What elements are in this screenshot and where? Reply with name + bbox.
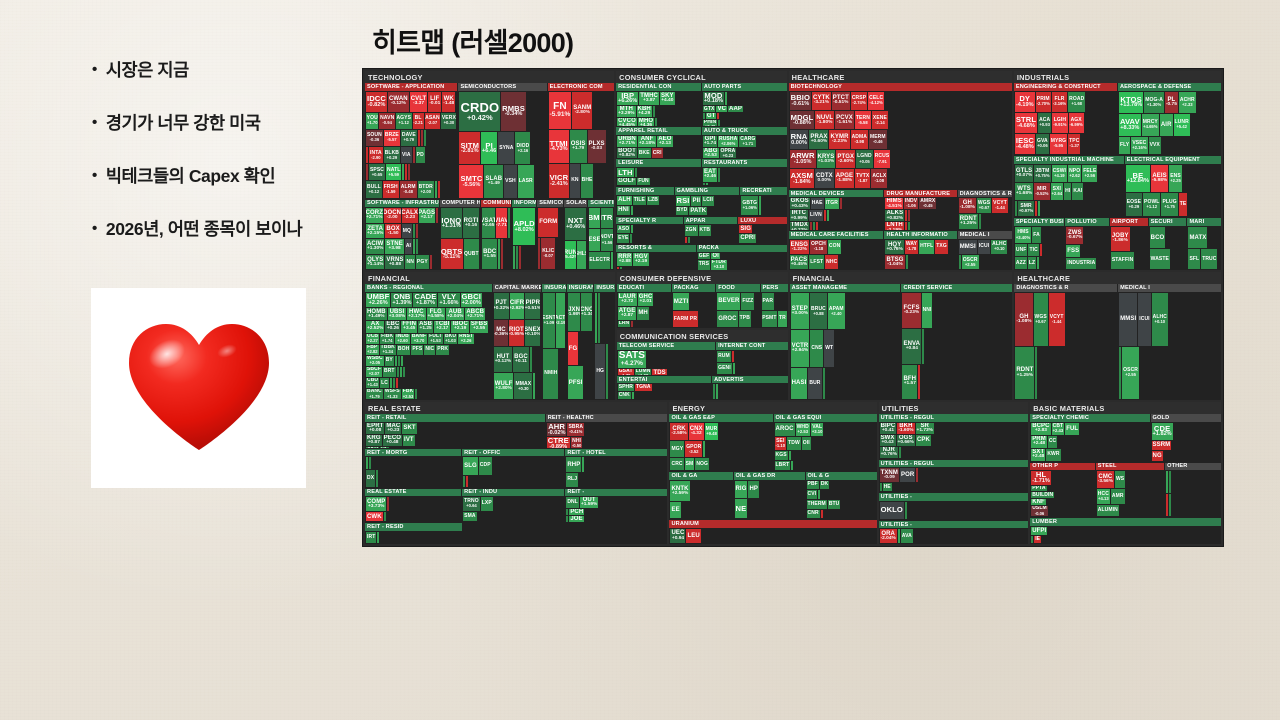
stock-tile[interactable] xyxy=(898,529,900,543)
stock-tile-cwk[interactable]: CWK xyxy=(366,512,383,521)
stock-tile[interactable] xyxy=(438,181,440,197)
stock-tile[interactable] xyxy=(823,368,825,399)
industry-group[interactable]: SPECIALTY BUSIHMS+3.40%FAUNFTICAZZLZ xyxy=(1014,218,1064,270)
stock-tile-val[interactable]: VAL+3.10 xyxy=(811,423,824,436)
stock-tile-mog-a[interactable]: MOG-A+1.30% xyxy=(1144,92,1164,114)
stock-tile-bl[interactable]: BL-2.21 xyxy=(413,113,424,129)
stock-tile-cpk[interactable]: CPK xyxy=(916,435,931,446)
stock-tile-fa[interactable]: FA xyxy=(1032,227,1041,243)
industry-group[interactable]: REIT - HOTELRHPRLJ xyxy=(565,449,667,488)
stock-tile[interactable] xyxy=(703,113,705,119)
stock-tile-wsfs[interactable]: WSFS+1.33 xyxy=(384,389,401,399)
stock-tile[interactable] xyxy=(717,113,719,119)
stock-tile-nog[interactable]: NOG xyxy=(695,458,709,470)
industry-group[interactable]: AIRPORTJOBY-1.86%STAFFIN xyxy=(1110,218,1148,270)
stock-tile-cde[interactable]: CDE+1.82% xyxy=(1152,423,1173,440)
stock-tile-oscr[interactable]: OSCR+2.55 xyxy=(962,255,979,269)
stock-tile-jbtm[interactable]: JBTM+0.75% xyxy=(1034,165,1050,182)
stock-tile[interactable] xyxy=(366,147,368,163)
stock-tile-lbrt[interactable]: LBRT xyxy=(775,461,791,470)
stock-tile-itgr[interactable]: ITGR xyxy=(825,198,839,209)
stock-tile-cytk[interactable]: CYTK-3.21% xyxy=(812,92,831,110)
stock-tile-indv[interactable]: INDV-1.06 xyxy=(904,198,918,209)
stock-tile-peco[interactable]: PECO+0.48 xyxy=(383,435,402,446)
stock-tile[interactable] xyxy=(566,516,568,522)
industry-group[interactable]: MARIMATXSFLTRUC xyxy=(1187,218,1221,270)
stock-tile-sats[interactable]: SATS+4.27% xyxy=(618,351,646,368)
stock-tile[interactable] xyxy=(366,457,368,468)
stock-tile-nic[interactable]: NIC xyxy=(424,345,435,355)
stock-tile-mmsi[interactable]: MMSI xyxy=(959,240,977,254)
stock-tile-vcyt[interactable]: VCYT-1.44 xyxy=(1049,293,1065,346)
stock-tile[interactable] xyxy=(413,239,415,254)
stock-tile-step[interactable]: STEP+3.00% xyxy=(791,293,809,329)
stock-tile-zgn[interactable]: ZGN xyxy=(685,225,698,236)
stock-tile-lc[interactable]: LC xyxy=(380,378,389,388)
industry-group[interactable]: BANKS - REGIONALUMBF+2.26%ONB+1.39%CADE+… xyxy=(365,284,492,400)
stock-tile-spsc[interactable]: SPSC+0.65 xyxy=(369,164,385,180)
sector-group[interactable]: REAL ESTATEREIT - RETAILEPRT+0.08MAC+0.2… xyxy=(365,402,667,544)
industry-group[interactable]: SECURIBCOWASTE xyxy=(1149,218,1187,270)
stock-tile-rnst[interactable]: RNST+2.26 xyxy=(458,334,474,344)
stock-tile[interactable] xyxy=(369,457,371,468)
stock-tile[interactable] xyxy=(463,476,465,487)
stock-tile-mac[interactable]: MAC+0.23 xyxy=(385,423,401,434)
stock-tile-qubt[interactable]: QUBT xyxy=(464,239,479,269)
stock-tile[interactable] xyxy=(1040,244,1042,256)
industry-group[interactable]: DIAGNOSTICS & RGH-1.08%WGS+0.67VCYT-1.44… xyxy=(1014,284,1117,400)
industry-group[interactable]: PACKAGEFOITRSFTDR+3.10 xyxy=(697,245,787,271)
stock-tile-leu[interactable]: LEU xyxy=(686,529,700,543)
industry-group[interactable]: SCIENTIFIC &BMIITRIESENOVT+1.56ELECTR xyxy=(588,200,614,271)
stock-tile-hqy[interactable]: HQY+0.76% xyxy=(885,240,903,254)
stock-tile[interactable] xyxy=(416,239,418,254)
stock-tile-qbts[interactable]: QBTS-3.11% xyxy=(441,239,463,269)
industry-group[interactable]: HEALTH INFORMATIOHQY+0.76%WAY-1.78HTFLTX… xyxy=(884,231,956,270)
stock-tile-mth[interactable]: MTH+3.29% xyxy=(617,106,635,117)
stock-tile-rgti[interactable]: RGTI+0.16 xyxy=(463,208,479,238)
stock-tile-joe[interactable]: JOE xyxy=(569,516,583,522)
stock-tile-te[interactable]: TE xyxy=(1179,193,1188,216)
stock-tile-bfh[interactable]: BFH+1.57 xyxy=(902,365,917,400)
stock-tile-tpc[interactable]: TPC-1.37 xyxy=(1068,134,1080,154)
stock-tile-zws[interactable]: ZWS-0.67% xyxy=(1066,227,1083,244)
stock-tile-hl[interactable]: HL-1.71% xyxy=(1031,471,1051,485)
stock-tile-aciw[interactable]: ACIW+1.30% xyxy=(366,239,384,254)
stock-tile-tmhc[interactable]: TMHC+3.87 xyxy=(639,92,659,105)
stock-tile-lif[interactable]: LIF-0.01 xyxy=(428,92,441,112)
industry-group[interactable]: UTILITIES -ORA-2.04%AVA xyxy=(879,521,1029,544)
stock-tile[interactable] xyxy=(655,118,657,126)
industry-group[interactable]: SPECIALTY RASOEYE xyxy=(616,217,683,244)
stock-tile-tile[interactable]: TILE xyxy=(633,196,646,205)
stock-tile-bur[interactable]: BUR xyxy=(808,368,821,399)
stock-tile-aub[interactable]: AUB+2.04% xyxy=(446,308,464,320)
stock-tile[interactable] xyxy=(827,210,829,221)
stock-tile-oscr[interactable]: OSCR+2.55 xyxy=(1122,347,1139,400)
stock-tile-fele[interactable]: FELE+2.56 xyxy=(1082,165,1097,182)
stock-tile[interactable] xyxy=(501,239,503,269)
stock-tile-sm[interactable]: SM xyxy=(685,458,695,470)
stock-tile-rig[interactable]: RIG xyxy=(735,481,748,499)
stock-tile-unf[interactable]: UNF xyxy=(1015,244,1028,256)
stock-tile-bbio[interactable]: BBIO-0.61% xyxy=(790,92,811,110)
sector-group[interactable]: CONSUMER DEFENSIVEEDUCATILAUR+2.72GHC+2.… xyxy=(617,272,788,328)
industry-group[interactable]: INSURANHG xyxy=(594,284,614,400)
stock-tile[interactable] xyxy=(703,441,705,457)
stock-tile-lumn[interactable]: LUMN+1.09 xyxy=(635,369,652,375)
stock-tile-akr[interactable]: AKR xyxy=(366,447,379,448)
industry-group[interactable]: OIL & GAS EQUIAROCWHD+2.53VAL+3.10SEI-1.… xyxy=(774,414,877,471)
industry-group[interactable]: PACKAGMZTIFARM PR xyxy=(672,284,715,328)
stock-tile-icui[interactable]: ICUI xyxy=(978,240,990,254)
stock-tile-homb[interactable]: HOMB+1.49% xyxy=(366,308,387,320)
stock-tile-cdp[interactable]: CDP xyxy=(479,457,492,474)
stock-tile-pgy[interactable]: PGY xyxy=(416,255,429,270)
industry-group[interactable]: REIT - MORTGDX xyxy=(365,449,461,488)
stock-tile-bruc[interactable]: BRUC+0.88 xyxy=(810,293,827,329)
stock-tile-sanm[interactable]: SANM-2.80% xyxy=(572,92,592,129)
industry-group[interactable]: RECREATIGBTG+1.06% xyxy=(740,187,786,216)
stock-tile-nni[interactable]: NNI xyxy=(922,293,933,328)
stock-tile-dx[interactable]: DX xyxy=(366,470,375,487)
stock-tile-wgs[interactable]: WGS+0.67 xyxy=(1034,293,1048,346)
stock-tile-buildin[interactable]: BUILDIN xyxy=(1031,492,1054,497)
stock-tile-azz[interactable]: AZZ xyxy=(1015,257,1027,269)
stock-tile-itri[interactable]: ITRI xyxy=(601,208,613,228)
stock-tile-ahr[interactable]: AHR-0.02% xyxy=(547,423,567,436)
stock-tile[interactable] xyxy=(905,210,907,221)
industry-group[interactable]: GOLDCDE+1.82%SSRMNG xyxy=(1151,414,1221,461)
stock-tile-slab[interactable]: SLAB+1.49 xyxy=(484,165,503,197)
industry-group[interactable]: URANIUMUEC+0.94LEU xyxy=(669,520,876,544)
stock-tile[interactable] xyxy=(718,120,720,126)
stock-tile-pacs[interactable]: PACS+0.45% xyxy=(790,255,809,269)
industry-group[interactable]: MEDICAL DEVICESGKOS+0.43%HAEITGRIRTC+0.9… xyxy=(789,190,884,230)
stock-tile-matx[interactable]: MATX xyxy=(1188,227,1207,248)
stock-tile-sma[interactable]: SMA xyxy=(463,512,476,521)
stock-tile-crsp[interactable]: CRSP-2.74% xyxy=(851,92,867,110)
stock-tile[interactable] xyxy=(718,168,720,182)
stock-tile[interactable] xyxy=(635,168,637,177)
industry-group[interactable]: CAPITAL MARKETSPJT+0.32%CIFR+2.92%PIPR+0… xyxy=(493,284,542,400)
stock-tile-gkos[interactable]: GKOS+0.43% xyxy=(790,198,810,209)
stock-tile-sxt[interactable]: SXT+2.48 xyxy=(1031,449,1045,461)
stock-tile-zeta[interactable]: ZETA+2.15% xyxy=(366,224,384,239)
stock-tile-pd[interactable]: PD xyxy=(416,147,425,163)
stock-tile-sxi[interactable]: SXI+2.64 xyxy=(1051,183,1064,200)
stock-tile[interactable] xyxy=(733,363,735,374)
stock-tile-brze[interactable]: BRZE-5.57 xyxy=(384,130,400,146)
stock-tile-aap[interactable]: AAP xyxy=(728,106,743,112)
stock-tile-umbf[interactable]: UMBF+2.26% xyxy=(366,293,390,307)
stock-tile-irt[interactable]: IRT xyxy=(366,532,376,543)
industry-group[interactable]: LEISURELTHGOLFFUN xyxy=(616,159,701,186)
stock-tile-hi[interactable]: HI xyxy=(1064,183,1071,200)
industry-group[interactable]: MEDICAL CARE FACILITIESENSG-1.22%OPCH-1.… xyxy=(789,231,884,270)
stock-tile-smr[interactable]: SMR+0.97% xyxy=(1018,201,1034,217)
stock-tile-sbra[interactable]: SBRA-0.41% xyxy=(567,423,584,436)
stock-tile-apld[interactable]: APLD+8.02% xyxy=(513,208,535,245)
stock-tile-cvi[interactable]: CVI xyxy=(807,490,818,499)
stock-tile-nxt[interactable]: NXT+0.46% xyxy=(565,208,586,239)
stock-tile-ogs[interactable]: OGS+0.66% xyxy=(897,435,915,446)
stock-tile[interactable] xyxy=(403,367,405,377)
stock-tile-lxp[interactable]: LXP xyxy=(481,497,493,511)
industry-group[interactable]: APPAREL RETAILURBN+2.71%ANF+2.18%AEO+2.1… xyxy=(616,127,701,158)
stock-tile-pfsi[interactable]: PFSI xyxy=(568,366,584,399)
stock-tile-wk[interactable]: WK-1.48 xyxy=(442,92,455,112)
stock-tile-ens[interactable]: ENS+2.25 xyxy=(1169,165,1182,192)
stock-tile-cnr[interactable]: CNR xyxy=(807,510,820,519)
stock-tile-celc[interactable]: CELC-4.12% xyxy=(868,92,884,110)
stock-tile[interactable] xyxy=(530,347,532,373)
stock-tile-gh[interactable]: GH-1.08% xyxy=(1015,293,1032,346)
stock-tile[interactable] xyxy=(703,183,705,186)
stock-tile-fss[interactable]: FSS xyxy=(1066,245,1080,257)
stock-tile-kgs[interactable]: KGS xyxy=(775,451,788,460)
stock-tile-rcus[interactable]: RCUS-7.91 xyxy=(874,150,891,168)
stock-tile[interactable] xyxy=(377,532,379,543)
stock-tile[interactable] xyxy=(566,509,568,515)
stock-tile-fn[interactable]: FN-5.91% xyxy=(549,92,572,129)
stock-tile-livn[interactable]: LIVN xyxy=(809,210,823,221)
stock-tile-krys[interactable]: KRYS+1.03% xyxy=(817,150,836,168)
stock-tile[interactable] xyxy=(685,237,687,243)
stock-tile-axsm[interactable]: AXSM-1.84% xyxy=(790,169,814,187)
stock-tile-gbci[interactable]: GBCI+2.00% xyxy=(461,293,482,307)
industry-group[interactable]: BIOTECHNOLOGYBBIO-0.61%CYTK-3.21%PTCT-0.… xyxy=(789,83,1012,189)
stock-tile[interactable] xyxy=(598,293,600,343)
stock-tile-oi[interactable]: OI xyxy=(711,253,720,259)
industry-group[interactable]: REAL ESTATECOMP+3.73%CWK xyxy=(365,489,461,523)
stock-tile-btdr[interactable]: BTDR+2.00 xyxy=(418,181,434,197)
stock-tile-prk[interactable]: PRK xyxy=(436,345,449,355)
stock-tile-patk[interactable]: PATK xyxy=(689,207,707,215)
stock-tile-fbp[interactable]: FBP+2.82 xyxy=(366,345,379,355)
stock-tile[interactable] xyxy=(1169,494,1171,516)
industry-group[interactable]: SEMICONDUCTORSCRDO+0.42%RMBS-0.34%SITM-2… xyxy=(458,83,546,199)
industry-group[interactable]: MEDICAL IMMSIICUIALHC+0.10OSCR+2.55 xyxy=(1118,284,1221,400)
industry-group[interactable]: POLLUTIOZWS-0.67%FSSINDUSTRIA xyxy=(1065,218,1109,270)
stock-tile-pch[interactable]: PCH xyxy=(569,509,584,515)
stock-tile-atge[interactable]: ATGE+2.87 xyxy=(618,307,637,320)
stock-tile[interactable] xyxy=(376,470,378,487)
stock-tile-vc[interactable]: VC xyxy=(716,106,727,112)
stock-tile-viav[interactable]: VIAV-7.71 xyxy=(496,208,507,238)
stock-tile-shls[interactable]: SHLS xyxy=(577,241,586,270)
stock-tile-ax[interactable]: AX+2.52% xyxy=(366,321,384,333)
stock-tile[interactable] xyxy=(397,367,399,377)
stock-tile-brt[interactable]: BRT xyxy=(383,367,396,377)
stock-tile-act[interactable]: ACT+2.19 xyxy=(556,293,565,348)
stock-tile[interactable] xyxy=(821,510,823,519)
stock-tile-gsat[interactable]: GSAT-1.79 xyxy=(618,369,634,375)
stock-tile-laur[interactable]: LAUR+2.72 xyxy=(618,293,637,306)
stock-tile[interactable] xyxy=(396,378,398,388)
stock-tile-sfbs[interactable]: SFBS+2.55 xyxy=(470,321,488,333)
industry-group[interactable]: OIL & GAKNTK+2.59%EE xyxy=(669,472,732,519)
stock-tile-rdnt[interactable]: RDNT+1.25% xyxy=(959,214,978,229)
stock-tile-way[interactable]: WAY-1.78 xyxy=(905,240,918,254)
stock-tile-adma[interactable]: ADMA-3.98 xyxy=(851,130,868,148)
stock-tile-waste[interactable]: WASTE xyxy=(1150,249,1170,269)
stock-tile-par[interactable]: PAR xyxy=(762,293,775,310)
stock-tile-knf[interactable]: KNF xyxy=(1031,499,1046,505)
stock-tile-ktb[interactable]: KTB xyxy=(699,225,712,236)
stock-tile[interactable] xyxy=(466,476,468,487)
stock-tile-staffin[interactable]: STAFFIN xyxy=(1111,252,1134,270)
stock-tile-strl[interactable]: STRL-4.68% xyxy=(1015,113,1037,133)
stock-tile-dy[interactable]: DY-4.19% xyxy=(1015,92,1035,112)
stock-tile-psmt[interactable]: PSMT xyxy=(762,311,778,328)
stock-tile-iesc[interactable]: IESC-4.48% xyxy=(1015,134,1035,154)
industry-group[interactable]: OIL & GPBFDKCVITHERMBTUCNR xyxy=(806,472,877,519)
stock-tile-mmsi[interactable]: MMSI xyxy=(1119,293,1137,346)
stock-tile-sky[interactable]: SKY+4.40 xyxy=(660,92,675,105)
industry-group[interactable]: ADVERTIS xyxy=(712,376,788,400)
stock-tile-anf[interactable]: ANF+2.18% xyxy=(638,136,656,147)
stock-tile-syna[interactable]: SYNA xyxy=(498,132,514,164)
stock-tile-ftdr[interactable]: FTDR+3.10 xyxy=(711,260,727,269)
stock-tile-stne[interactable]: STNE+3.98 xyxy=(385,239,403,254)
industry-group[interactable]: SPECIALTY CHEMICBCPC+2.83CBT+2.43FULPRM+… xyxy=(1030,414,1149,461)
stock-tile-industria[interactable]: INDUSTRIA xyxy=(1066,258,1096,269)
stock-tile[interactable] xyxy=(810,222,812,230)
stock-tile-agys[interactable]: AGYS+1.12 xyxy=(396,113,412,129)
stock-tile-lgih[interactable]: LGIH-9.91% xyxy=(1052,113,1067,133)
stock-tile[interactable] xyxy=(611,252,613,269)
stock-tile-natl[interactable]: NATL+5.59 xyxy=(386,164,401,180)
stock-tile[interactable] xyxy=(880,483,882,491)
sector-group[interactable]: FINANCIALASSET MANAGEMESTEP+3.00%BRUC+0.… xyxy=(790,272,1013,400)
stock-tile-ionq[interactable]: IONQ+1.31% xyxy=(441,208,462,238)
stock-tile[interactable] xyxy=(398,356,400,366)
stock-tile-pcvx[interactable]: PCVX-1.61% xyxy=(835,111,854,129)
stock-tile-pi[interactable]: PI+6.46 xyxy=(481,132,497,164)
industry-group[interactable]: GAMBLINGRSIPIILCIIBYDPATK xyxy=(675,187,740,216)
stock-tile-aroc[interactable]: AROC xyxy=(775,423,795,436)
stock-tile-frsh[interactable]: FRSH-1.59 xyxy=(383,181,399,197)
stock-tile-irtc[interactable]: IRTC+0.99% xyxy=(790,210,808,221)
stock-tile-trs[interactable]: TRS xyxy=(698,260,710,269)
stock-tile-pags[interactable]: PAGS+2.17 xyxy=(419,208,435,223)
stock-tile[interactable] xyxy=(582,457,584,472)
stock-tile-kai[interactable]: KAI xyxy=(1072,183,1083,200)
stock-tile-dk[interactable]: DK xyxy=(820,481,829,490)
stock-tile-sfl[interactable]: SFL xyxy=(1188,249,1200,269)
industry-group[interactable]: INFORMATIAPLD+8.02% xyxy=(512,200,536,271)
stock-tile-pjt[interactable]: PJT+0.32% xyxy=(494,293,509,319)
stock-tile-plug[interactable]: PLUG+1.75 xyxy=(1161,193,1177,216)
stock-tile-bmi[interactable]: BMI xyxy=(589,208,600,228)
stock-tile-bipc[interactable]: BIPC+0.41 xyxy=(880,423,897,434)
stock-tile-ava[interactable]: AVA xyxy=(901,529,913,543)
stock-tile-opra[interactable]: OPRA+0.23 xyxy=(720,148,737,159)
stock-tile[interactable] xyxy=(759,196,761,215)
stock-tile-lth[interactable]: LTH xyxy=(617,168,634,177)
stock-tile-sr[interactable]: SR+1.73% xyxy=(916,423,934,434)
stock-tile[interactable] xyxy=(791,461,793,470)
stock-tile-tdw[interactable]: TDW xyxy=(787,437,801,450)
stock-tile[interactable] xyxy=(533,373,535,399)
stock-tile-merm[interactable]: MERM-0.46 xyxy=(869,130,887,148)
stock-tile-ghc[interactable]: GHC+2.01 xyxy=(638,293,654,306)
stock-tile-mh[interactable]: MH xyxy=(637,307,649,320)
stock-tile-fult[interactable]: FULT+1.53 xyxy=(428,334,443,344)
stock-tile-carg[interactable]: CARG+1.71 xyxy=(739,136,756,147)
stock-tile-farm pr[interactable]: FARM PR xyxy=(673,311,698,327)
stock-tile-btsg[interactable]: BTSG-1.04% xyxy=(885,255,904,269)
stock-tile-aca[interactable]: ACA+0.93 xyxy=(1038,113,1051,133)
stock-tile-ssrm[interactable]: SSRM xyxy=(1152,441,1172,450)
stock-tile-skt[interactable]: SKT xyxy=(402,423,416,434)
stock-tile-bco[interactable]: BCO xyxy=(1150,227,1166,248)
stock-tile[interactable] xyxy=(813,222,815,230)
industry-group[interactable]: REIT - HEALTHCAHR-0.02%SBRA-0.41%CTRE-0.… xyxy=(546,414,668,448)
stock-tile-eose[interactable]: EOSE+0.29 xyxy=(1126,193,1142,216)
stock-tile-hp[interactable]: HP xyxy=(748,481,759,499)
stock-tile-cvlt[interactable]: CVLT-3.37 xyxy=(410,92,428,112)
stock-tile-lcii[interactable]: LCII xyxy=(702,196,714,206)
industry-group[interactable]: LUXUSIGCPRI xyxy=(738,217,786,244)
stock-tile-cpri[interactable]: CPRI xyxy=(739,234,756,242)
stock-tile-vrns[interactable]: VRNS+0.88 xyxy=(385,255,404,270)
stock-tile-ptgx[interactable]: PTGX-2.60% xyxy=(836,150,855,168)
sector-group[interactable]: HEALTHCAREDIAGNOSTICS & RGH-1.08%WGS+0.6… xyxy=(1014,272,1221,400)
stock-tile-vctr[interactable]: VCTR+2.94% xyxy=(791,330,810,366)
stock-tile-prax[interactable]: PRAX+0.60% xyxy=(809,130,828,148)
stock-tile-banf[interactable]: BANF+3.70 xyxy=(411,334,427,344)
stock-tile-klic[interactable]: KLIC-0.07 xyxy=(541,238,555,270)
stock-tile-bever[interactable]: BEVER xyxy=(717,293,740,310)
industry-group[interactable]: SOFTWARE - APPLICATIONIDCC-0.82%CWAN-0.1… xyxy=(365,83,457,199)
stock-tile[interactable] xyxy=(1035,347,1037,400)
stock-tile-ptct[interactable]: PTCT-0.51% xyxy=(832,92,850,110)
stock-tile-boh[interactable]: BOH xyxy=(397,345,410,355)
industry-group[interactable]: AUTO PARTSMOD+0.18%GTXVCAAPGTPHIN+2.46 xyxy=(702,83,787,126)
industry-group[interactable]: SOFTWARE - INFRASTRUCTURECORZ+2.71%DOCN-… xyxy=(365,200,439,271)
stock-tile[interactable] xyxy=(405,164,407,180)
industry-group[interactable]: INTERNET CONTRUMGENI xyxy=(716,342,788,375)
stock-tile[interactable] xyxy=(1119,347,1121,400)
sector-group[interactable]: UTILITIESUTILITIES - REGULBIPC+0.41BKH-1… xyxy=(879,402,1029,544)
stock-tile-tic[interactable]: TIC xyxy=(1028,244,1038,256)
stock-tile-sig[interactable]: SIG xyxy=(739,225,752,233)
stock-tile-rlj[interactable]: RLJ xyxy=(566,473,578,487)
stock-tile-opch[interactable]: OPCH-1.18 xyxy=(810,240,827,254)
stock-tile-run[interactable]: RUN+5.42% xyxy=(565,241,576,270)
stock-tile-truc[interactable]: TRUC xyxy=(1201,249,1217,269)
industry-group[interactable]: AUTO & TRUCKGPI+1.74RUSHA+2.06%CARG+1.71… xyxy=(702,127,787,158)
stock-tile-boot[interactable]: BOOT+0.82% xyxy=(617,148,637,159)
industry-group[interactable]: ASSET MANAGEMESTEP+3.00%BRUC+0.88APAM+2.… xyxy=(790,284,901,400)
stock-tile-tvtx[interactable]: TVTX-1.87 xyxy=(855,169,870,187)
stock-tile-apge[interactable]: APGE-1.88% xyxy=(835,169,854,187)
industry-group[interactable]: ENGINEERING & CONSTRUCTDY-4.19%PRIM-2.70… xyxy=(1014,83,1117,155)
stock-tile-bdc[interactable]: BDC+1.55 xyxy=(482,239,497,269)
stock-tile-tbbk[interactable]: TBBK+1.34 xyxy=(380,345,396,355)
industry-group[interactable]: AEROSPACE & DEFENSEKTOS+13.78%MOG-A+1.30… xyxy=(1118,83,1221,155)
stock-tile[interactable] xyxy=(606,344,608,399)
stock-tile-you[interactable]: YOU+1.70 xyxy=(366,113,378,129)
stock-tile-pii[interactable]: PII xyxy=(691,196,701,206)
sector-group[interactable]: HEALTHCAREBIOTECHNOLOGYBBIO-0.61%CYTK-3.… xyxy=(789,71,1012,270)
stock-tile-kwr[interactable]: KWR xyxy=(1046,449,1060,461)
stock-tile-he[interactable]: HE xyxy=(883,483,892,491)
industry-group[interactable]: OTHER PHL-1.71%PPTABUILDINKNFUSLM-0.06 xyxy=(1030,463,1095,517)
stock-tile-hni[interactable]: HNI xyxy=(617,206,630,215)
